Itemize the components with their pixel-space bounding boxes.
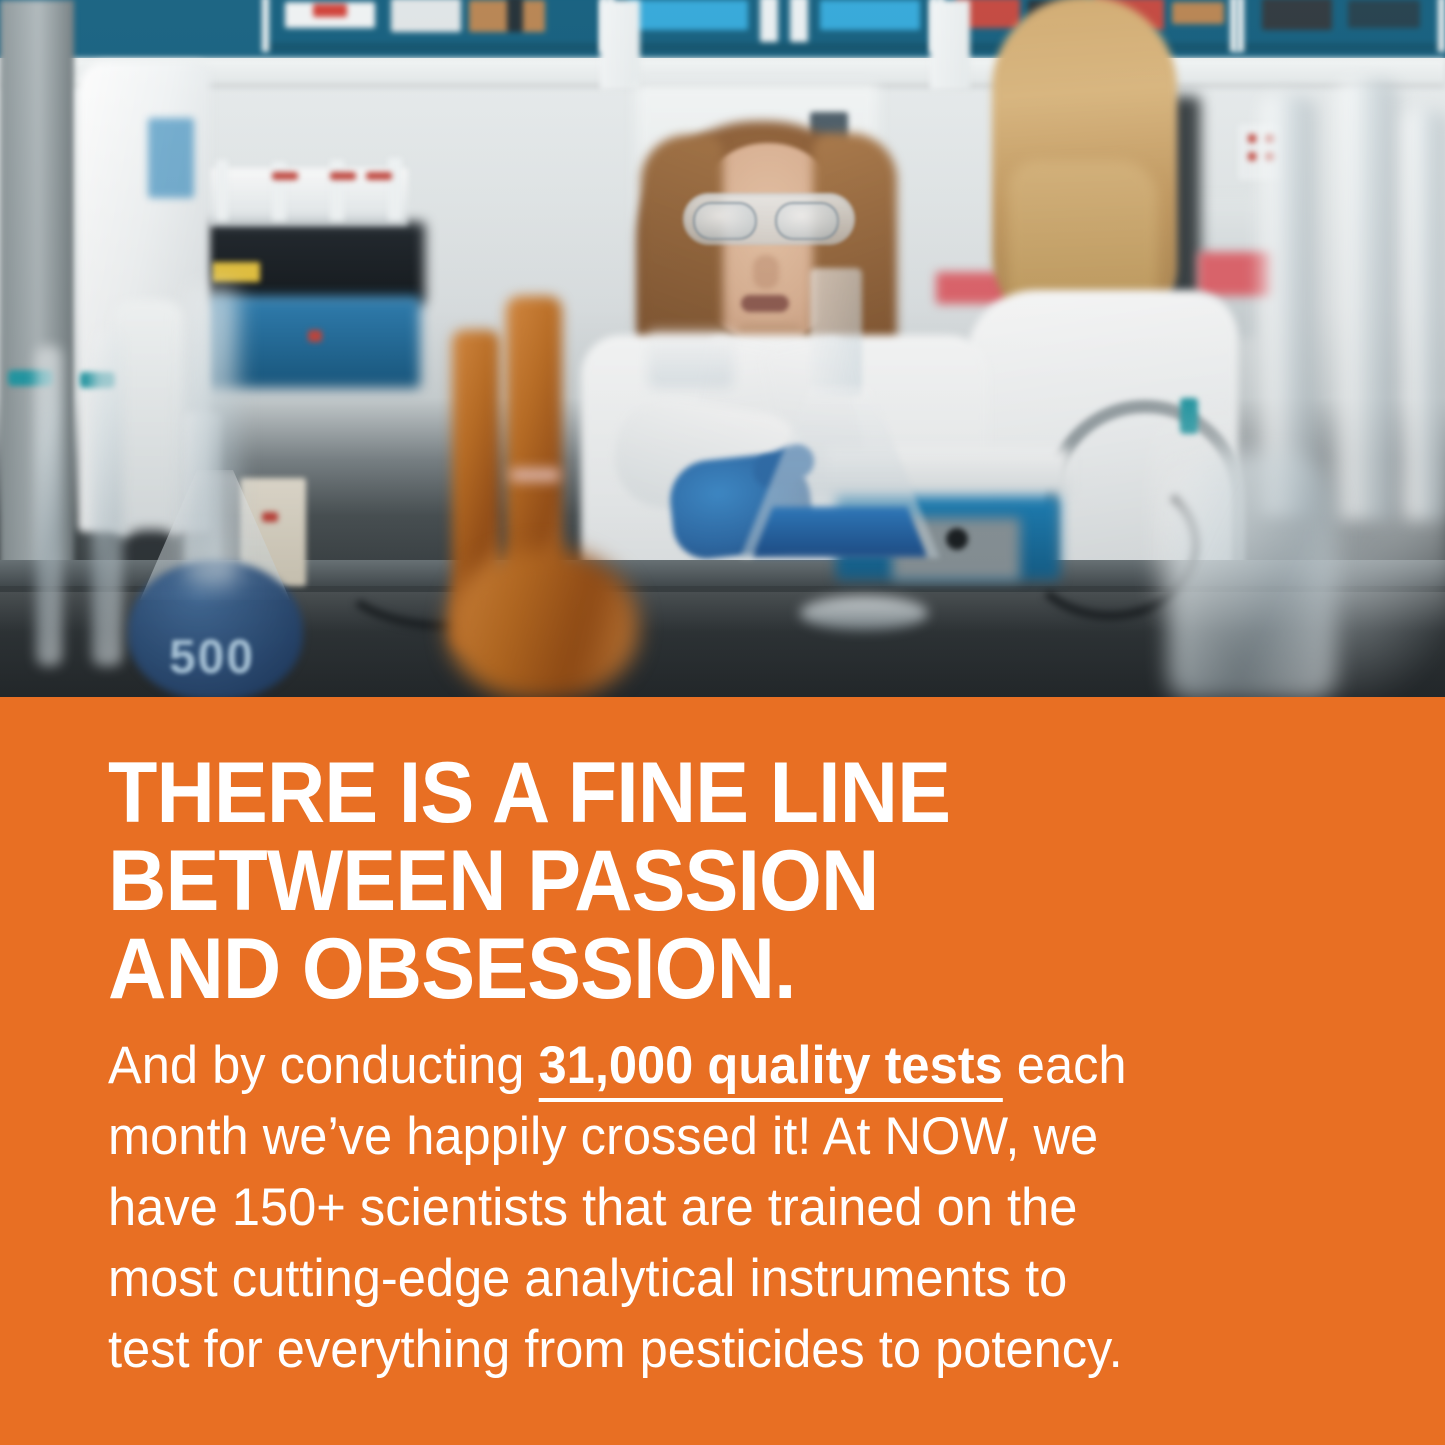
- quality-tests-stat: 31,000 quality tests: [539, 1036, 1003, 1102]
- indicator-red-left: [308, 330, 322, 342]
- headline-line-1: THERE IS A FINE LINE: [108, 749, 1274, 837]
- body-line-2: month we’ve happily crossed it! At NOW, …: [108, 1101, 1302, 1172]
- test-tube-4: [388, 158, 402, 220]
- cabinet-unit-center: [607, 0, 937, 52]
- body-line-3: have 150+ scientists that are trained on…: [108, 1172, 1302, 1243]
- outlet-indicator: [262, 512, 278, 522]
- scientist-left-glove-hint: [148, 118, 194, 198]
- body-line-1-suffix: each: [1003, 1036, 1127, 1095]
- body-line-5: test for everything from pesticides to p…: [108, 1314, 1302, 1385]
- tube-cap-2: [330, 172, 356, 180]
- test-tube-2: [272, 162, 286, 220]
- headline-line-2: BETWEEN PASSION: [108, 837, 1274, 925]
- cabinet-unit-far-right: [1237, 0, 1445, 52]
- tube-cap-1: [272, 172, 298, 180]
- amber-flask-bulb: [448, 548, 638, 697]
- scientist-left-arm: [112, 300, 184, 540]
- erlenmeyer-liquid: [752, 506, 928, 558]
- body-copy: And by conducting 31,000 quality tests e…: [108, 1030, 1302, 1385]
- gas-cylinder-2: [1334, 80, 1398, 520]
- body-line-4: most cutting-edge analytical instruments…: [108, 1243, 1302, 1314]
- small-beaker: [648, 330, 734, 388]
- body-line-1-prefix: And by conducting: [108, 1036, 539, 1095]
- yellow-strip: [212, 262, 260, 282]
- test-tube-1: [216, 160, 228, 220]
- flask-volume-label: 500: [150, 630, 274, 682]
- tube-cap-3: [366, 172, 392, 180]
- pipette-1: [36, 346, 62, 666]
- petri-dish: [800, 596, 928, 630]
- body-line-1: And by conducting 31,000 quality tests e…: [108, 1030, 1302, 1101]
- instrument-knob: [946, 528, 968, 550]
- goggle-lens-right: [775, 202, 839, 240]
- burette-left: [186, 286, 238, 586]
- lab-photo: 500: [0, 0, 1445, 697]
- goggle-lens-left: [693, 202, 757, 240]
- pipette-2: [92, 330, 122, 666]
- amber-flask-band: [510, 468, 560, 482]
- page-title: THERE IS A FINE LINE BETWEEN PASSION AND…: [108, 749, 1274, 1013]
- headline-line-3: AND OBSESSION.: [108, 925, 1274, 1013]
- gas-cylinder-3: [1402, 110, 1445, 520]
- cabinet-divider-left: [600, 0, 640, 90]
- test-tube-3: [330, 160, 344, 220]
- foreground-flask-right: [1168, 452, 1336, 697]
- cabinet-unit-left: [262, 0, 607, 52]
- erlenmeyer-neck: [810, 268, 862, 396]
- erlenmeyer-flask: [740, 268, 940, 558]
- orange-content-panel: THERE IS A FINE LINE BETWEEN PASSION AND…: [0, 697, 1445, 1445]
